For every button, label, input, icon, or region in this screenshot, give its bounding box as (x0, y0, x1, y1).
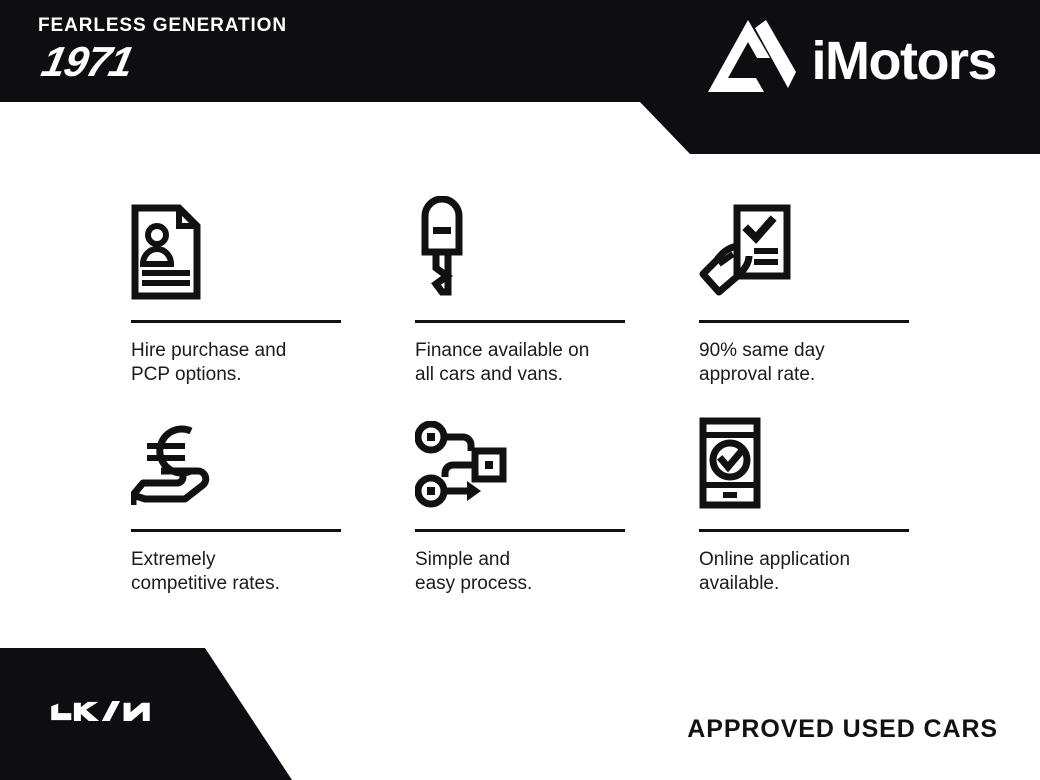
feature-card-competitive-rates: Extremely competitive rates. (131, 397, 341, 606)
hand-holding-checklist-icon (699, 204, 793, 300)
feature-card-approval-rate: 90% same day approval rate. (699, 188, 909, 397)
feature-divider (415, 529, 625, 532)
feature-icon-wrap (131, 188, 341, 300)
feature-icon-wrap (415, 188, 625, 300)
imotors-logo-lockup[interactable]: iMotors (708, 18, 997, 104)
feature-label: Simple and easy process. (415, 548, 625, 596)
imotors-chevron-icon (708, 18, 796, 104)
promo-banner: FEARLESS GENERATION 1971 iMotors (0, 0, 1040, 780)
header-bar: FEARLESS GENERATION 1971 iMotors (0, 0, 1040, 154)
feature-icon-wrap (415, 397, 625, 509)
feature-divider (131, 529, 341, 532)
header-tagline: FEARLESS GENERATION (38, 16, 287, 35)
feature-divider (699, 529, 909, 532)
feature-divider (699, 320, 909, 323)
feature-card-easy-process: Simple and easy process. (415, 397, 625, 606)
feature-card-finance-available: Finance available on all cars and vans. (415, 188, 625, 397)
feature-icon-wrap (699, 397, 909, 509)
feature-card-online-application: Online application available. (699, 397, 909, 606)
process-flowchart-icon (415, 421, 507, 509)
mobile-check-icon (699, 417, 761, 509)
kia-logo[interactable] (48, 694, 180, 728)
fearless-generation-block: FEARLESS GENERATION 1971 (38, 16, 287, 83)
feature-grid: Hire purchase and PCP options. Finance a… (131, 188, 911, 606)
feature-label: 90% same day approval rate. (699, 339, 909, 387)
feature-divider (131, 320, 341, 323)
car-key-icon (415, 196, 469, 300)
feature-label: Finance available on all cars and vans. (415, 339, 625, 387)
feature-label: Online application available. (699, 548, 909, 596)
document-person-icon (131, 204, 201, 300)
feature-label: Hire purchase and PCP options. (131, 339, 341, 387)
feature-icon-wrap (131, 397, 341, 509)
imotors-wordmark: iMotors (812, 34, 997, 88)
year-1971-logo: 1971 (38, 41, 296, 83)
feature-card-hire-purchase: Hire purchase and PCP options. (131, 188, 341, 397)
feature-label: Extremely competitive rates. (131, 548, 341, 596)
approved-used-cars-label: APPROVED USED CARS (687, 715, 998, 744)
feature-divider (415, 320, 625, 323)
feature-icon-wrap (699, 188, 909, 300)
euro-in-hand-icon (131, 421, 225, 509)
